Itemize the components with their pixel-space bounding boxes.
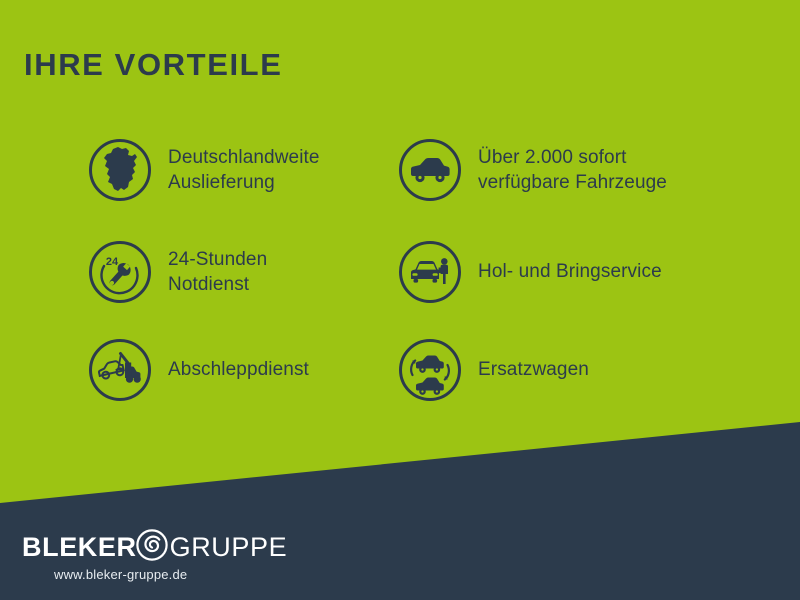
benefit-label: Hol- und Bringservice [478,259,662,284]
germany-map-icon [88,138,152,202]
car-with-person-icon [398,240,462,304]
footer-logo[interactable]: BLEKER GRUPPE www.bleker-gruppe.de [22,530,282,582]
page-title: IHRE VORTEILE [24,48,283,82]
benefit-item-ersatzwagen[interactable]: Ersatzwagen [398,322,800,418]
benefit-label: Über 2.000 sofort verfügbare Fahrzeuge [478,145,667,195]
benefits-row: 24 24-Stunden Notdienst [0,222,800,322]
logo-wordmark: BLEKER GRUPPE [22,530,282,564]
website-url[interactable]: www.bleker-gruppe.de [54,567,282,582]
benefit-item-24-stunden-notdienst[interactable]: 24 24-Stunden Notdienst [0,222,398,322]
icon-text-24: 24 [106,256,119,268]
spiral-swirl-logo-icon [135,528,169,567]
benefit-item-abschleppdienst[interactable]: Abschleppdienst [0,322,398,418]
benefit-label: 24-Stunden Notdienst [168,247,267,297]
benefit-label: Deutschlandweite Auslieferung [168,145,320,195]
benefit-item-deutschlandweite-auslieferung[interactable]: Deutschlandweite Auslieferung [0,118,398,222]
logo-name-light: GRUPPE [170,534,288,561]
car-side-icon [398,138,462,202]
logo-name-bold: BLEKER [22,534,137,561]
benefit-item-verfuegbare-fahrzeuge[interactable]: Über 2.000 sofort verfügbare Fahrzeuge [398,118,800,222]
benefits-row: Deutschlandweite Auslieferung [0,118,800,222]
tow-truck-icon [88,338,152,402]
24-hour-wrench-icon: 24 [88,240,152,304]
benefit-item-hol-und-bringservice[interactable]: Hol- und Bringservice [398,222,800,322]
benefit-label: Abschleppdienst [168,357,309,382]
benefit-label: Ersatzwagen [478,357,589,382]
benefits-grid: Deutschlandweite Auslieferung [0,118,800,418]
benefits-row: Abschleppdienst [0,322,800,418]
two-cars-swap-icon [398,338,462,402]
slide-canvas: IHRE VORTEILE Deutschlandweite Ausliefer… [0,0,800,600]
